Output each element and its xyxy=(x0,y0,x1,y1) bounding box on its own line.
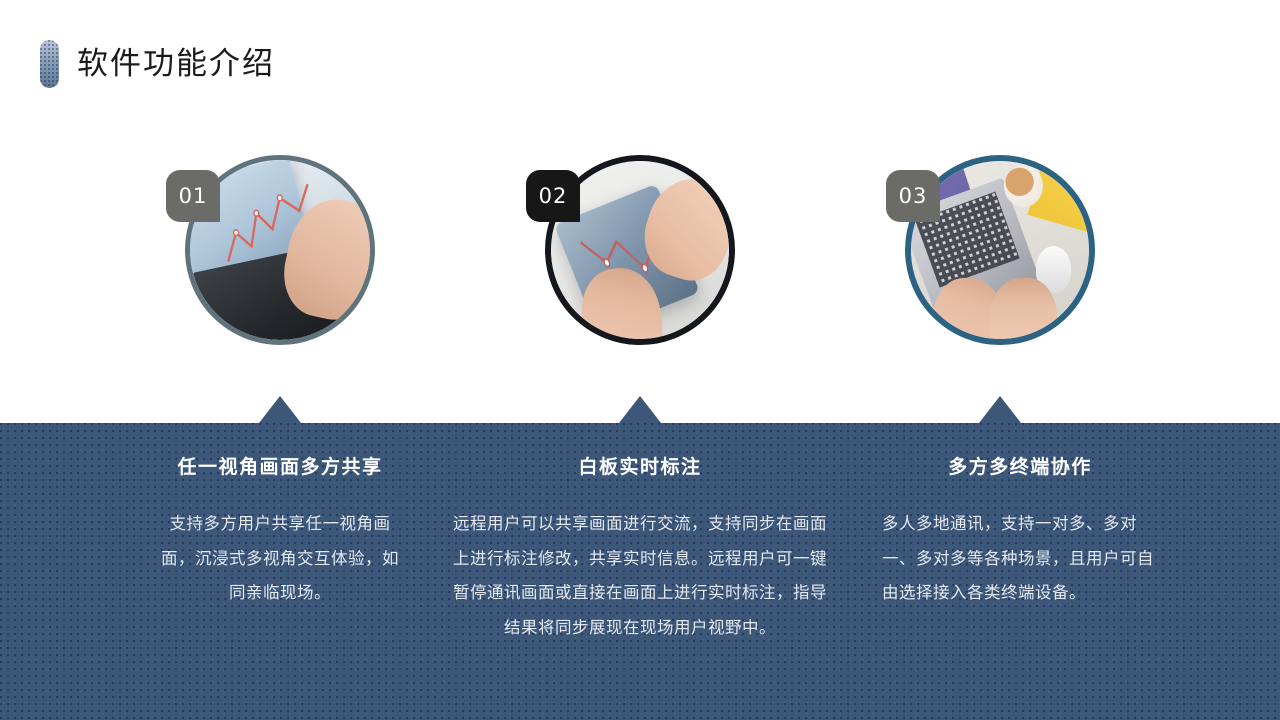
feature-heading-1: 任一视角画面多方共享 xyxy=(145,452,415,479)
feature-body-1: 支持多方用户共享任一视角画面，沉浸式多视角交互体验，如同亲临现场。 xyxy=(145,507,415,611)
features-panel: 任一视角画面多方共享 支持多方用户共享任一视角画面，沉浸式多视角交互体验，如同亲… xyxy=(0,423,1280,720)
feature-circle-1[interactable]: 01 xyxy=(185,155,375,345)
feature-circle-3[interactable]: 03 xyxy=(905,155,1095,345)
feature-column-1: 任一视角画面多方共享 支持多方用户共享任一视角画面，沉浸式多视角交互体验，如同亲… xyxy=(145,423,415,611)
feature-circle-2[interactable]: 02 xyxy=(545,155,735,345)
coffee-cup-graphic xyxy=(1004,165,1043,208)
feature-heading-3: 多方多终端协作 xyxy=(870,452,1170,479)
panel-notch-2-icon xyxy=(619,396,661,423)
feature-column-2: 白板实时标注 远程用户可以共享画面进行交流，支持同步在画面上进行标注修改，共享实… xyxy=(450,423,830,646)
panel-notch-1-icon xyxy=(259,396,301,423)
feature-circles-row: 01 02 xyxy=(0,0,1280,400)
right-hand-graphic xyxy=(989,278,1057,339)
feature-body-3: 多人多地通讯，支持一对多、多对一、多对多等各种场景，且用户可自由选择接入各类终端… xyxy=(870,507,1170,611)
circle-badge-2: 02 xyxy=(526,170,580,222)
feature-heading-2: 白板实时标注 xyxy=(450,452,830,479)
circle-badge-1: 01 xyxy=(166,170,220,222)
circle-badge-3: 03 xyxy=(886,170,940,222)
feature-column-3: 多方多终端协作 多人多地通讯，支持一对多、多对一、多对多等各种场景，且用户可自由… xyxy=(870,423,1170,611)
feature-body-2: 远程用户可以共享画面进行交流，支持同步在画面上进行标注修改，共享实时信息。远程用… xyxy=(450,507,830,646)
panel-notch-3-icon xyxy=(979,396,1021,423)
